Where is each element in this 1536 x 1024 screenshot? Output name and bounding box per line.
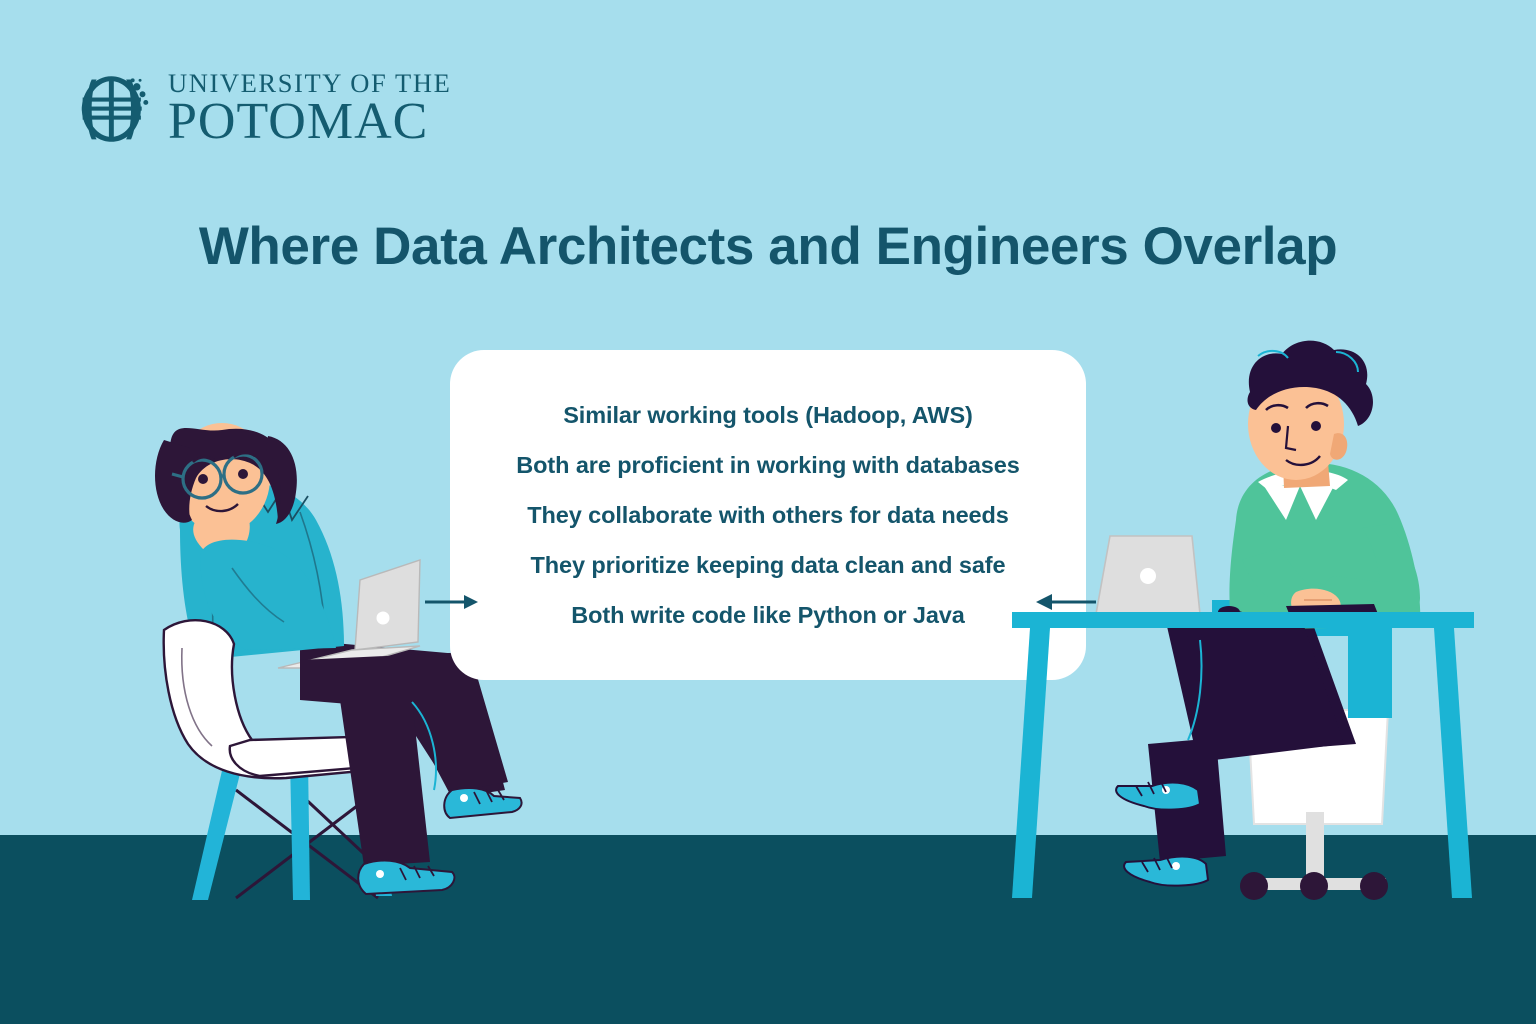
arrow-from-right-person xyxy=(1036,594,1096,610)
arrow-from-left-person xyxy=(425,595,478,609)
desk xyxy=(1012,612,1474,898)
infographic-canvas: Similar working tools (Hadoop, AWS) Both… xyxy=(0,0,1536,1024)
illustration-front-layer xyxy=(0,0,1536,1024)
right-laptop xyxy=(1082,536,1214,620)
